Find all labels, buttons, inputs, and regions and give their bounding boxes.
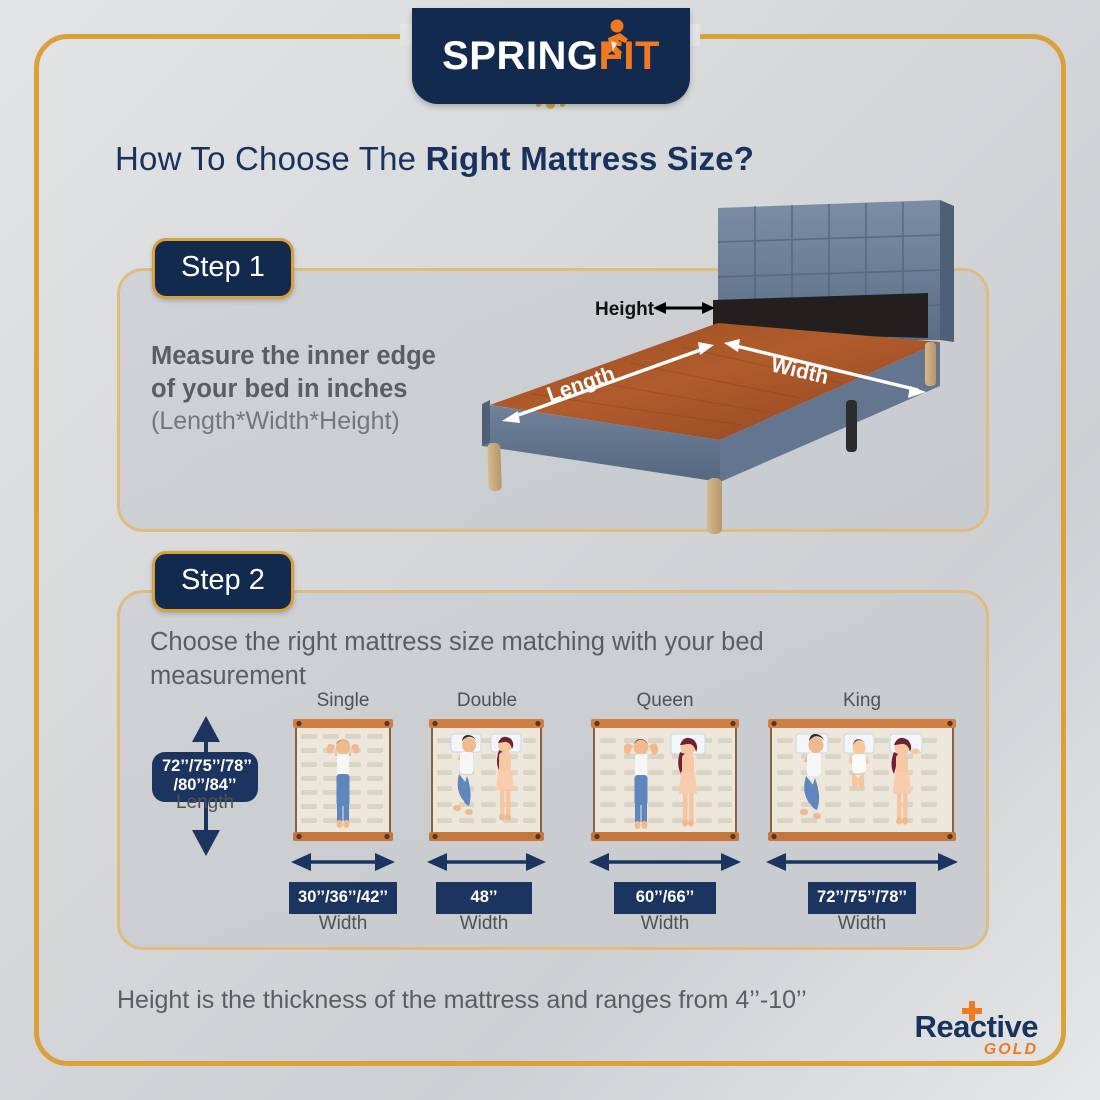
mattress-single xyxy=(293,716,393,844)
footer-note: Height is the thickness of the mattress … xyxy=(117,986,807,1015)
reactive-logo-main: Reactive xyxy=(858,1012,1038,1041)
mattress-double xyxy=(429,716,544,844)
bed-svg: Height Length Width xyxy=(470,190,970,535)
width-value-double: 48’’ xyxy=(436,882,532,914)
width-arrow-queen-icon xyxy=(589,852,741,872)
size-label-queen: Queen xyxy=(595,690,735,712)
width-caption-queen: Width xyxy=(595,913,735,935)
step-2-line-1: Choose the right mattress size matching … xyxy=(150,626,910,660)
reactive-logo-sub: GOLD xyxy=(858,1042,1038,1058)
plus-cross-icon xyxy=(962,1001,982,1021)
brand-logo-plate: SPRING FIT xyxy=(412,8,690,104)
size-label-double: Double xyxy=(417,690,557,712)
bed-height-label: Height xyxy=(595,299,655,320)
step-1-instruction: Measure the inner edge of your bed in in… xyxy=(151,340,481,437)
step-2-instruction: Choose the right mattress size matching … xyxy=(150,626,910,694)
running-figure-icon xyxy=(600,18,630,64)
page-title-regular: How To Choose The xyxy=(115,140,426,177)
step-2-line-2: measurement xyxy=(150,660,910,694)
width-caption-double: Width xyxy=(414,913,554,935)
step-1-line-2: of your bed in inches xyxy=(151,373,481,406)
length-caption: Length xyxy=(152,792,258,814)
size-label-king: King xyxy=(792,690,932,712)
width-arrow-double-icon xyxy=(427,852,546,872)
width-caption-single: Width xyxy=(273,913,413,935)
width-value-single: 30’’/36’’/42’’ xyxy=(289,882,397,914)
width-arrow-single-icon xyxy=(291,852,395,872)
bed-height-label-group: Height xyxy=(595,299,715,320)
width-arrow-king-icon xyxy=(766,852,958,872)
width-caption-king: Width xyxy=(792,913,932,935)
step-1-line-1: Measure the inner edge xyxy=(151,340,481,373)
width-value-queen: 60’’/66’’ xyxy=(614,882,716,914)
length-value-line-1: 72’’/75’’/78’’ xyxy=(162,757,248,776)
bed-illustration: Height Length Width xyxy=(470,190,970,535)
step-2-badge: Step 2 xyxy=(152,551,294,612)
page-title-bold: Right Mattress Size? xyxy=(426,140,755,177)
logo-primary-text: SPRING xyxy=(442,34,598,79)
mattress-queen xyxy=(591,716,739,844)
page-title: How To Choose The Right Mattress Size? xyxy=(115,140,754,178)
brand-logo-text: SPRING FIT xyxy=(442,34,660,79)
width-value-king: 72’’/75’’/78’’ xyxy=(808,882,916,914)
step-1-line-3: (Length*Width*Height) xyxy=(151,405,481,437)
mattress-king xyxy=(768,716,956,844)
size-label-single: Single xyxy=(273,690,413,712)
step-1-badge: Step 1 xyxy=(152,238,294,299)
reactive-gold-logo: Reactive GOLD xyxy=(858,1012,1038,1068)
